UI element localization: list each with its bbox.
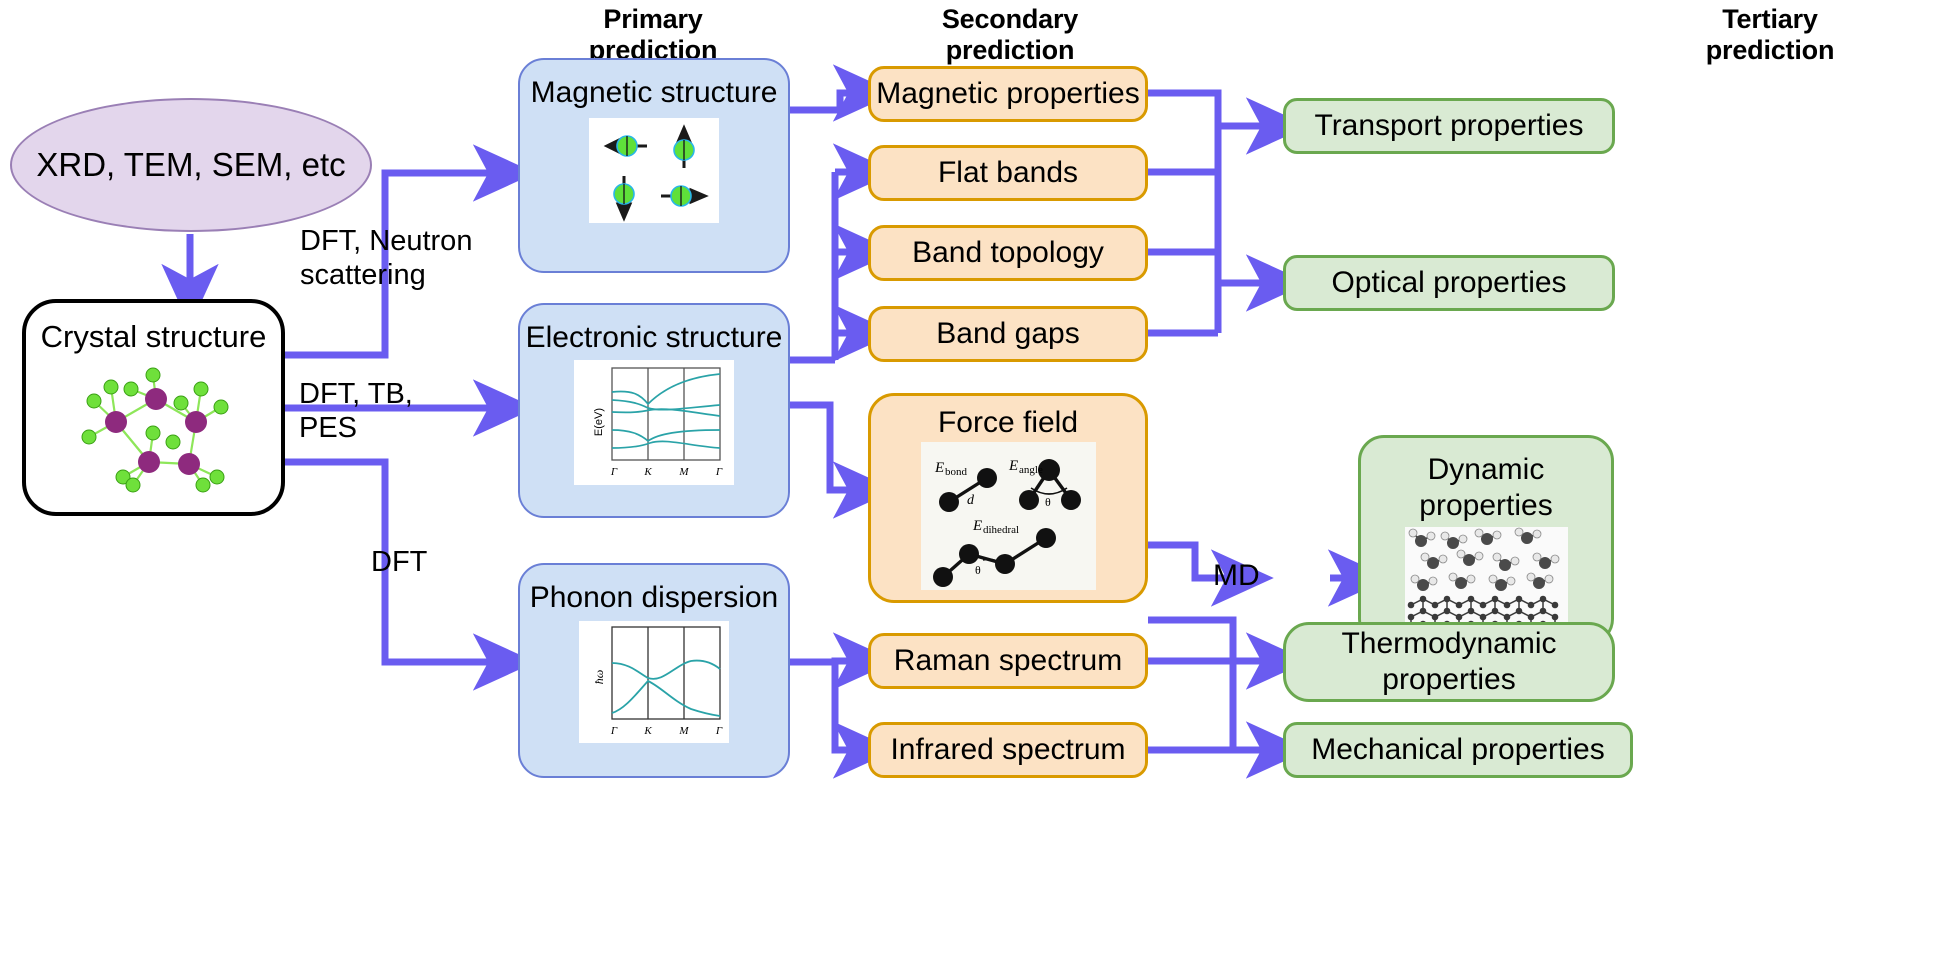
source-ellipse-label: XRD, TEM, SEM, etc [36,146,345,184]
ff-bond-E: E [934,460,944,476]
band-plot-ylabel: E(eV) [593,408,605,436]
node-optical-properties[interactable]: Optical properties [1283,255,1615,311]
phonon-plot-ylabel: ħω [592,670,606,684]
magnetic-spins-thumbnail [589,118,719,223]
flat-bands-label: Flat bands [871,156,1145,190]
dynamic-properties-label-line1: Dynamic [1361,452,1611,488]
transport-properties-label: Transport properties [1286,108,1612,144]
band-plot-xtick-1: K [643,466,652,478]
edge-label-dft: DFT [371,545,427,579]
band-plot-xtick-3: Γ [715,466,723,478]
edge-label-dft-tb-line2: PES [299,411,413,445]
node-thermodynamic-properties[interactable]: Thermodynamic properties [1283,622,1615,702]
mechanical-properties-label: Mechanical properties [1286,732,1630,768]
force-field-label: Force field [871,406,1145,440]
edge-label-dft-tb-line1: DFT, TB, [299,377,413,411]
column-header-primary-line1: Primary [518,4,788,35]
diagram-canvas: Primary prediction Secondary prediction … [0,0,1949,975]
node-phonon-dispersion[interactable]: Phonon dispersion ħω Γ K M Γ [518,563,790,778]
crystal-structure-label: Crystal structure [41,319,267,355]
column-header-secondary-line1: Secondary [870,4,1150,35]
phonon-plot-xtick-1: K [643,725,652,737]
ff-bond-sub: bond [945,466,968,478]
source-ellipse[interactable]: XRD, TEM, SEM, etc [10,98,372,232]
edge-label-dft-neutron-line1: DFT, Neutron [300,224,472,258]
wire-magprops-to-transport [1148,93,1278,126]
node-crystal-structure[interactable]: Crystal structure [22,299,285,516]
ff-angle-sub: angle [1019,464,1043,476]
band-structure-thumbnail: E(eV) Γ K M Γ [574,360,734,485]
electronic-structure-label: Electronic structure [520,319,788,357]
node-band-gaps[interactable]: Band gaps [868,306,1148,362]
node-mechanical-properties[interactable]: Mechanical properties [1283,722,1633,778]
phonon-dispersion-label: Phonon dispersion [520,579,788,617]
crystal-lattice-thumbnail [61,359,246,494]
column-header-secondary: Secondary prediction [870,4,1150,66]
ff-angle-theta: θ [1045,495,1051,509]
node-force-field[interactable]: Force field E bond d [868,393,1148,603]
node-raman-spectrum[interactable]: Raman spectrum [868,633,1148,689]
column-header-tertiary: Tertiary prediction [1640,4,1900,66]
phonon-plot-xtick-0: Γ [610,725,618,737]
column-header-secondary-line2: prediction [870,35,1150,66]
column-header-tertiary-line2: prediction [1640,35,1900,66]
ff-bond-d: d [967,493,975,508]
ff-angle-E: E [1008,458,1018,474]
node-band-topology[interactable]: Band topology [868,225,1148,281]
phonon-plot-xtick-2: M [678,725,689,737]
infrared-spectrum-label: Infrared spectrum [871,733,1145,767]
phonon-dispersion-thumbnail: ħω Γ K M Γ [579,621,729,743]
phonon-plot-xtick-3: Γ [715,725,723,737]
ff-dihedral-E: E [972,518,982,534]
wire-phonon-to-raman [790,661,865,662]
ff-dihedral-theta: θ [975,563,981,577]
band-plot-xtick-2: M [678,466,689,478]
node-dynamic-properties[interactable]: Dynamic properties [1358,435,1614,645]
edge-label-md: MD [1213,559,1260,593]
dynamic-properties-label-line2: properties [1361,488,1611,524]
wire-magstruct-to-magprops [790,93,865,110]
column-header-tertiary-line1: Tertiary [1640,4,1900,35]
thermodynamic-properties-label-line1: Thermodynamic [1286,626,1612,662]
wire-forcefield-to-lowerbus [1148,620,1233,750]
edge-label-dft-tb-pes: DFT, TB, PES [299,377,413,445]
edge-label-dft-text: DFT [371,545,427,579]
wire-phonon-to-infrared [835,662,865,750]
node-electronic-structure[interactable]: Electronic structure E(eV) Γ K M Γ [518,303,790,518]
force-field-thumbnail: E bond d E angle θ E dihedral θ [921,442,1096,590]
edge-label-dft-neutron-line2: scattering [300,258,472,292]
node-magnetic-structure[interactable]: Magnetic structure [518,58,790,273]
edge-label-dft-neutron: DFT, Neutron scattering [300,224,472,292]
band-plot-xtick-0: Γ [610,466,618,478]
magnetic-properties-label: Magnetic properties [871,77,1145,111]
thermodynamic-properties-label-line2: properties [1286,662,1612,698]
optical-properties-label: Optical properties [1286,265,1612,301]
magnetic-structure-label: Magnetic structure [520,74,788,112]
column-header-primary: Primary prediction [518,4,788,66]
raman-spectrum-label: Raman spectrum [871,644,1145,678]
ff-dihedral-sub: dihedral [983,524,1019,536]
node-magnetic-properties[interactable]: Magnetic properties [868,66,1148,122]
node-transport-properties[interactable]: Transport properties [1283,98,1615,154]
wire-elec-to-forcefield [790,405,865,490]
band-topology-label: Band topology [871,236,1145,270]
node-infrared-spectrum[interactable]: Infrared spectrum [868,722,1148,778]
node-flat-bands[interactable]: Flat bands [868,145,1148,201]
band-gaps-label: Band gaps [871,317,1145,351]
